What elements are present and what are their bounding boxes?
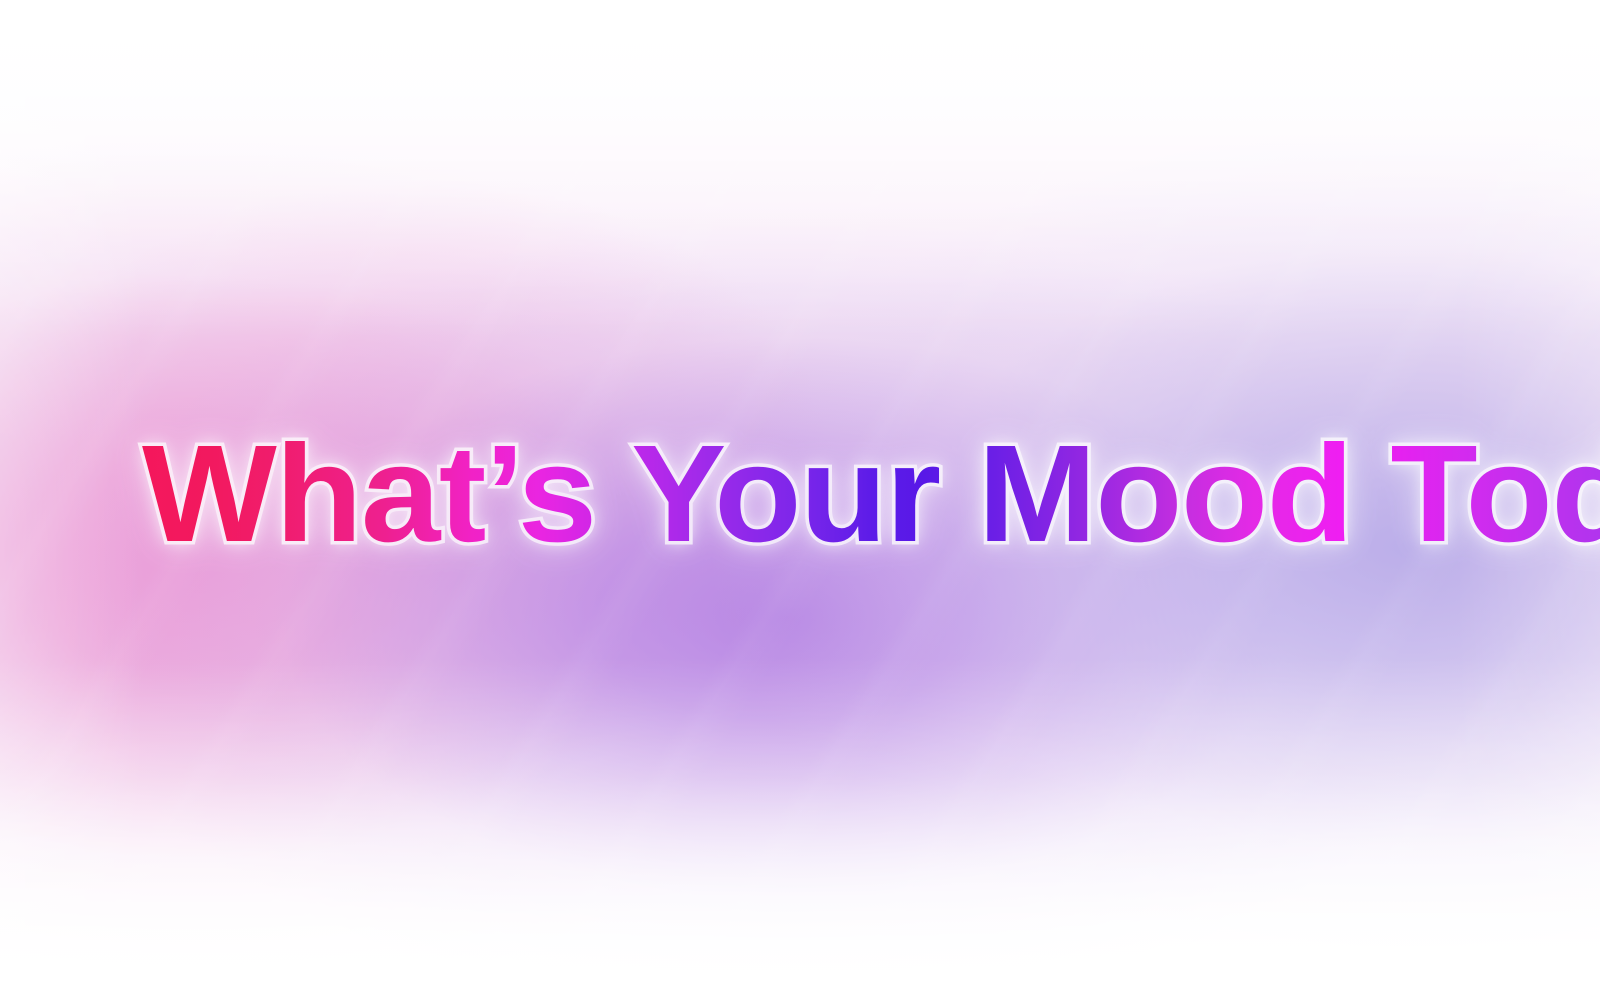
headline-stack: What’s Your Mood Today? What’s Your Mood… [142,424,1600,565]
title-slide-canvas: What’s Your Mood Today? What’s Your Mood… [0,0,1600,996]
page-title: What’s Your Mood Today? [142,424,1600,565]
headline-container: What’s Your Mood Today? What’s Your Mood… [0,0,1600,996]
